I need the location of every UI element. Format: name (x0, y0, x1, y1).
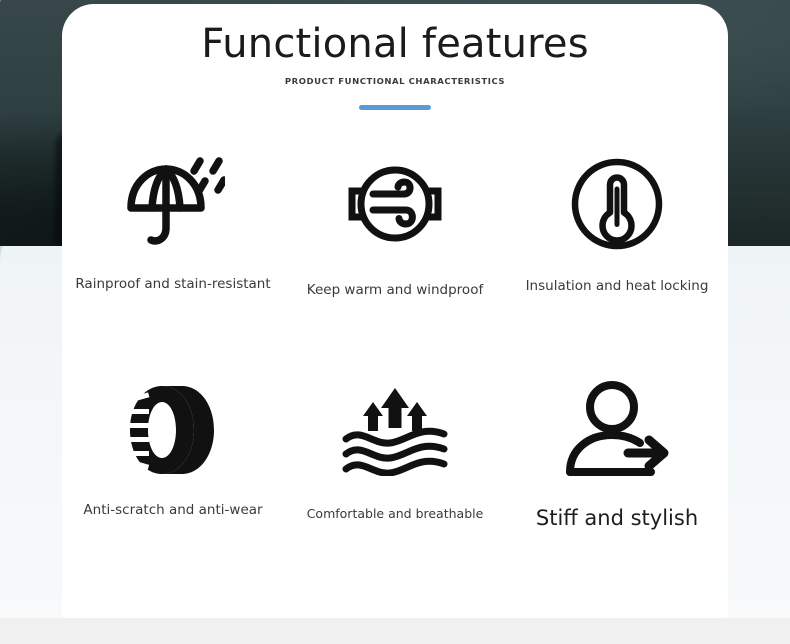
page-subtitle: PRODUCT FUNCTIONAL CHARACTERISTICS (62, 77, 728, 86)
content-card: Functional features PRODUCT FUNCTIONAL C… (62, 4, 728, 618)
feature-item-antiscratch: Anti-scratch and anti-wear (62, 374, 284, 534)
feature-label: Insulation and heat locking (526, 278, 709, 294)
feature-item-rainproof: Rainproof and stain-resistant (62, 148, 284, 308)
feature-item-insulation: Insulation and heat locking (506, 148, 728, 308)
feature-grid: Rainproof and stain-resistant Keep warm … (62, 148, 728, 534)
feature-item-breathable: Comfortable and breathable (284, 374, 506, 534)
feature-label: Comfortable and breathable (307, 506, 484, 521)
feature-item-stylish: Stiff and stylish (506, 374, 728, 534)
wind-circle-icon (346, 148, 444, 266)
feature-label: Keep warm and windproof (307, 282, 483, 298)
feature-label: Rainproof and stain-resistant (75, 276, 270, 292)
umbrella-rain-icon (121, 148, 225, 260)
feature-label: Stiff and stylish (536, 506, 698, 531)
feature-item-windproof: Keep warm and windproof (284, 148, 506, 308)
person-arrow-icon (565, 374, 669, 492)
background-floor (0, 618, 790, 644)
feature-panel: Functional features PRODUCT FUNCTIONAL C… (0, 0, 790, 644)
tire-tread-icon (128, 374, 218, 486)
thermometer-circle-icon (569, 148, 665, 262)
breathable-waves-icon (341, 374, 449, 490)
feature-label: Anti-scratch and anti-wear (83, 502, 262, 518)
page-title: Functional features (62, 22, 728, 67)
panel-header: Functional features PRODUCT FUNCTIONAL C… (62, 4, 728, 110)
accent-divider (359, 105, 431, 110)
